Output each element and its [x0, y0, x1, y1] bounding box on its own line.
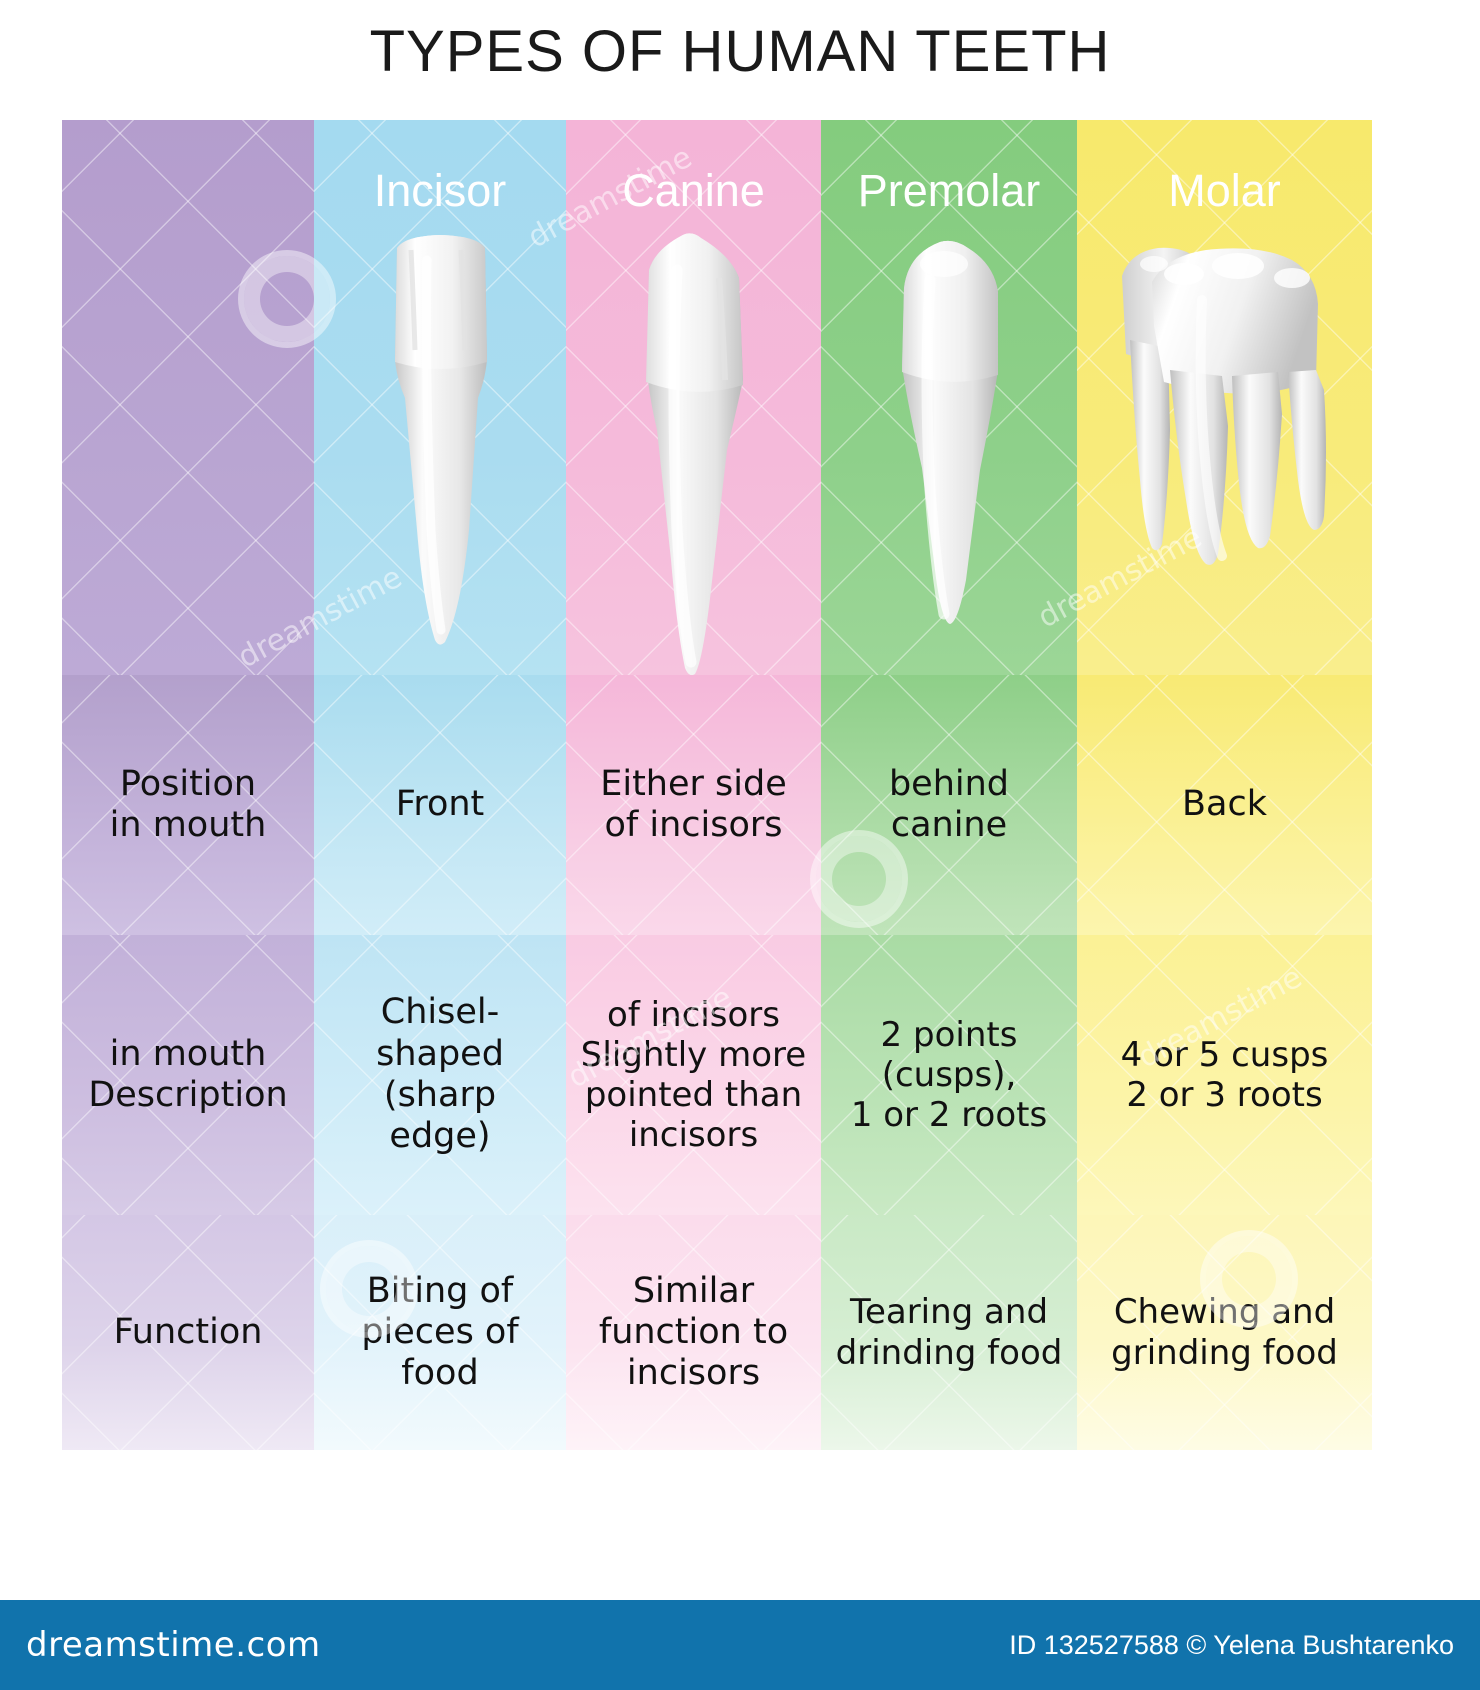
- column-header-molar[interactable]: Molar: [1077, 120, 1372, 675]
- table-cell-function-canine: Similar function to incisors: [566, 1215, 821, 1450]
- incisor-tooth-illustration: [314, 230, 566, 675]
- table-cell-description-incisor: Chisel- shaped (sharp edge): [314, 935, 566, 1215]
- cell-text: Either side of incisors: [594, 764, 793, 847]
- canine-tooth-illustration: [566, 230, 821, 675]
- cell-text: Chewing and grinding food: [1105, 1292, 1344, 1372]
- teeth-comparison-table: Incisor: [62, 120, 1372, 1450]
- table-cell-position-incisor: Front: [314, 675, 566, 935]
- molar-tooth-illustration: [1077, 230, 1372, 675]
- table-cell-function-molar: Chewing and grinding food: [1077, 1215, 1372, 1450]
- cell-text: of incisors Slightly more pointed than i…: [575, 995, 812, 1155]
- table-cell-function-incisor: Biting of pieces of food: [314, 1215, 566, 1450]
- table-cell-description-canine: of incisors Slightly more pointed than i…: [566, 935, 821, 1215]
- column-header-label: Molar: [1077, 165, 1372, 217]
- row-label-function: Function: [62, 1215, 314, 1450]
- row-label-description: in mouth Description: [62, 935, 314, 1215]
- premolar-tooth-illustration: [821, 230, 1077, 675]
- table-cell-position-canine: Either side of incisors: [566, 675, 821, 935]
- page-title: TYPES OF HUMAN TEETH: [0, 18, 1480, 85]
- table-cell-function-premolar: Tearing and drinding food: [821, 1215, 1077, 1450]
- footer-bar: dreamstime.com ID 132527588 © Yelena Bus…: [0, 1600, 1480, 1690]
- cell-text: 4 or 5 cusps 2 or 3 roots: [1115, 1035, 1335, 1115]
- column-header-label: Canine: [566, 165, 821, 217]
- cell-text: Front: [390, 784, 491, 825]
- cell-text: Chisel- shaped (sharp edge): [370, 992, 510, 1157]
- column-header-premolar[interactable]: Premolar: [821, 120, 1077, 675]
- table-cell-description-molar: 4 or 5 cusps 2 or 3 roots: [1077, 935, 1372, 1215]
- cell-text: behind canine: [883, 764, 1015, 847]
- row-label-text: in mouth Description: [82, 1034, 293, 1117]
- column-header-incisor[interactable]: Incisor: [314, 120, 566, 675]
- table-corner-cell: [62, 120, 314, 675]
- column-header-canine[interactable]: Canine: [566, 120, 821, 675]
- cell-text: Similar function to incisors: [593, 1271, 794, 1395]
- table-cell-description-premolar: 2 points (cusps), 1 or 2 roots: [821, 935, 1077, 1215]
- column-header-label: Premolar: [821, 165, 1077, 217]
- table-cell-position-molar: Back: [1077, 675, 1372, 935]
- row-label-text: Position in mouth: [104, 764, 273, 847]
- row-label-text: Function: [108, 1312, 269, 1353]
- cell-text: Tearing and drinding food: [830, 1292, 1069, 1372]
- image-credit: ID 132527588 © Yelena Bushtarenko: [1009, 1630, 1454, 1661]
- row-label-position: Position in mouth: [62, 675, 314, 935]
- cell-text: Back: [1176, 784, 1273, 825]
- table-cell-position-premolar: behind canine: [821, 675, 1077, 935]
- cell-text: Biting of pieces of food: [355, 1271, 524, 1395]
- column-header-label: Incisor: [314, 165, 566, 217]
- dreamstime-logo: dreamstime.com: [26, 1625, 321, 1665]
- cell-text: 2 points (cusps), 1 or 2 roots: [845, 1015, 1053, 1135]
